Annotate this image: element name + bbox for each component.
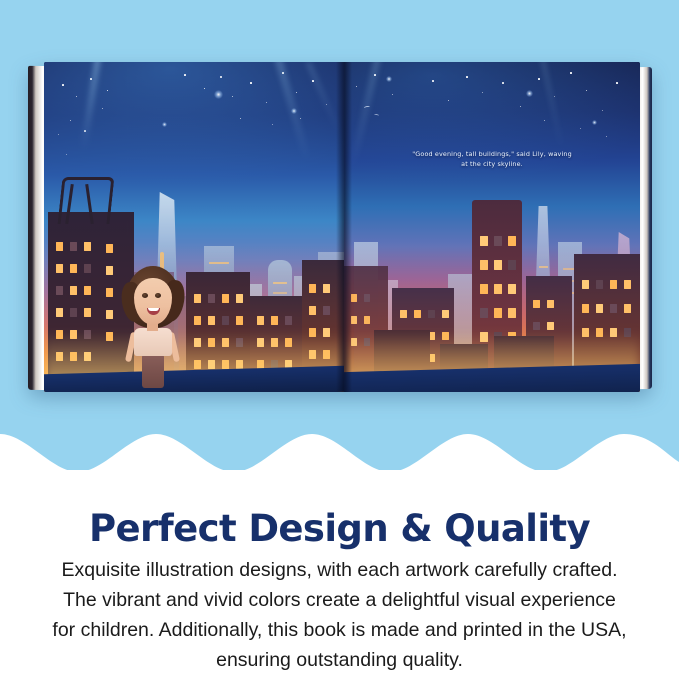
girl-eye-left: [142, 293, 148, 298]
girl-shirt: [134, 328, 172, 356]
product-feature-page: "Good evening, tall buildings," said Lil…: [0, 0, 679, 679]
book-caption-line-1: "Good evening, tall buildings," said Lil…: [378, 150, 606, 160]
description-text: Exquisite illustration designs, with eac…: [52, 555, 627, 675]
girl-legs: [142, 354, 164, 388]
book-page-left: [44, 62, 344, 392]
book-spread: "Good evening, tall buildings," said Lil…: [44, 62, 640, 392]
book-page-right: "Good evening, tall buildings," said Lil…: [344, 62, 640, 392]
book-gutter: [336, 62, 352, 392]
book-caption-line-2: at the city skyline.: [378, 160, 606, 170]
page-title: Perfect Design & Quality: [0, 507, 679, 550]
open-book-image: "Good evening, tall buildings," said Lil…: [28, 62, 652, 392]
wave-divider: [0, 418, 679, 482]
girl-eye-right: [155, 293, 161, 298]
book-caption: "Good evening, tall buildings," said Lil…: [378, 150, 606, 170]
